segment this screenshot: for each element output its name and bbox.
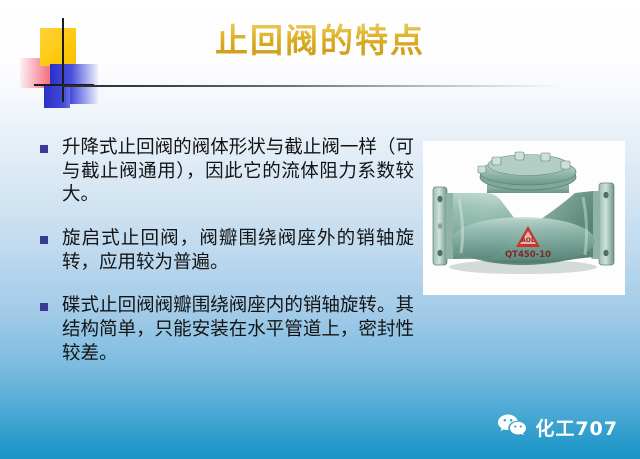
- square-bullet-icon: [40, 236, 48, 244]
- bullet-text: 旋启式止回阀，阀瓣围绕阀座外的销轴旋转，应用较为普遍。: [62, 227, 414, 274]
- watermark-label: 化工707: [535, 414, 618, 441]
- slide-title: 止回阀的特点: [0, 14, 640, 62]
- svg-text:AOL: AOL: [521, 237, 535, 244]
- bullet-text: 升降式止回阀的阀体形状与截止阀一样（可与截止阀通用），因此它的流体阻力系数较大。: [62, 136, 414, 207]
- presentation-slide: 止回阀的特点 升降式止回阀的阀体形状与截止阀一样（可与截止阀通用），因此它的流体…: [0, 0, 640, 459]
- title-underline-rule: [62, 85, 562, 87]
- bullet-text: 碟式止回阀阀瓣围绕阀座内的销轴旋转。其结构简单，只能安装在水平管道上，密封性较差…: [62, 294, 414, 365]
- bullet-list: 升降式止回阀的阀体形状与截止阀一样（可与截止阀通用），因此它的流体阻力系数较大。…: [40, 136, 420, 385]
- list-item: 碟式止回阀阀瓣围绕阀座内的销轴旋转。其结构简单，只能安装在水平管道上，密封性较差…: [40, 294, 420, 365]
- square-bullet-icon: [40, 303, 48, 311]
- list-item: 升降式止回阀的阀体形状与截止阀一样（可与截止阀通用），因此它的流体阻力系数较大。: [40, 136, 420, 207]
- list-item: 旋启式止回阀，阀瓣围绕阀座外的销轴旋转，应用较为普遍。: [40, 227, 420, 274]
- watermark: 化工707: [497, 413, 618, 441]
- swing-check-valve-photo: AOL QT450-10: [423, 141, 625, 295]
- valve-body-marking: QT450-10: [505, 250, 551, 260]
- square-bullet-icon: [40, 145, 48, 153]
- blue-square-shape-2: [44, 84, 70, 108]
- wechat-icon: [497, 413, 527, 441]
